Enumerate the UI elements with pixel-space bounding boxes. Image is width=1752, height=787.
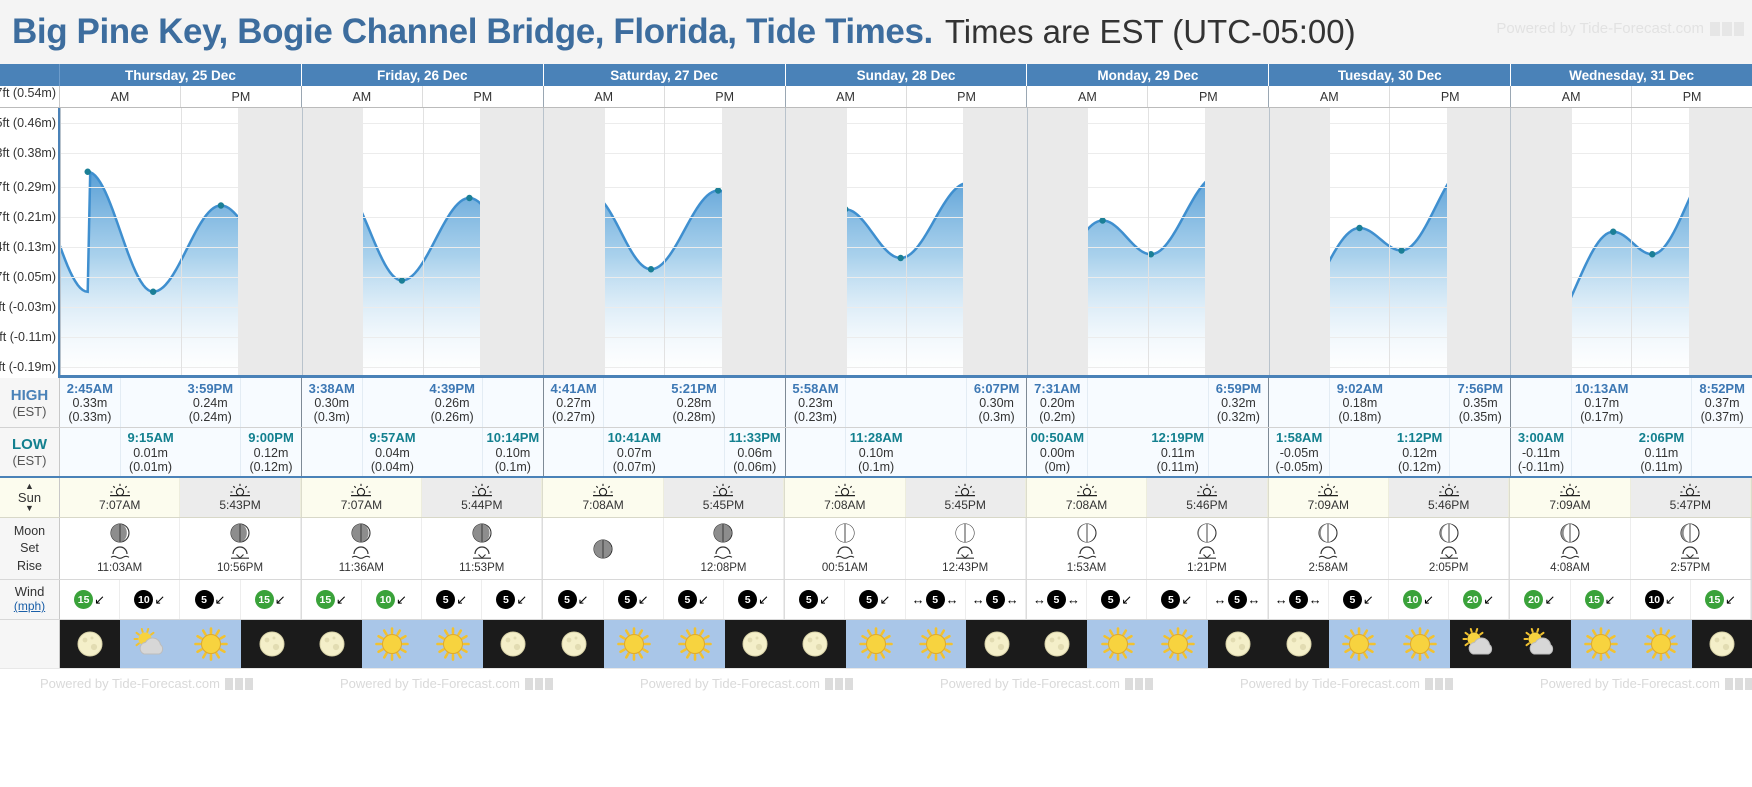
low-tide-time: 1:12PM — [1397, 431, 1443, 446]
clear-night-moon-icon — [256, 628, 288, 660]
sunrise-sunset-icon — [1196, 483, 1218, 497]
wind-cell[interactable]: ↔5↔ — [1207, 580, 1267, 619]
wind-cell[interactable]: 5↙ — [785, 580, 845, 619]
weather-cell[interactable] — [785, 620, 845, 668]
weather-cell[interactable] — [1027, 620, 1087, 668]
moon-phase-icon — [472, 523, 492, 543]
moon-am-cell[interactable] — [543, 518, 663, 579]
wind-cell[interactable]: 5↙ — [604, 580, 664, 619]
wind-cell[interactable]: 5↙ — [482, 580, 542, 619]
sunset-cell[interactable]: 5:45PM — [906, 478, 1026, 517]
low-tide-cell[interactable]: 12:19PM0.11m(0.11m) — [1148, 428, 1209, 476]
wind-cell[interactable]: ↔5↔ — [966, 580, 1026, 619]
wind-cell[interactable]: 5↙ — [664, 580, 724, 619]
wind-cell[interactable]: 20↙ — [1510, 580, 1570, 619]
wind-speed-badge: 5 — [859, 590, 878, 609]
high-tide-time: 6:07PM — [974, 382, 1020, 397]
wind-cell[interactable]: 5↙ — [1329, 580, 1389, 619]
clear-night-moon-icon — [497, 628, 529, 660]
weather-cell[interactable] — [362, 620, 422, 668]
y-axis-tick: 0.17ft (0.05m) — [0, 270, 56, 284]
wind-cell[interactable]: 5↙ — [180, 580, 240, 619]
tide-extreme-marker[interactable] — [466, 195, 472, 201]
sunny-icon — [617, 627, 651, 661]
weather-cell[interactable] — [181, 620, 241, 668]
weather-cell[interactable] — [60, 620, 120, 668]
high-tide-cell — [604, 378, 664, 427]
chart-day-separator — [1510, 108, 1511, 375]
wind-cell[interactable]: ↔5↔ — [906, 580, 966, 619]
weather-pm — [1631, 620, 1752, 668]
weather-pm — [664, 620, 785, 668]
tide-chart-y-axis: 1.77ft (0.54m)1.5ft (0.46m)1.23ft (0.38m… — [0, 108, 60, 378]
wind-speed-badge: 10 — [1403, 590, 1422, 609]
high-tide-height-alt: (0.35m) — [1459, 410, 1502, 424]
weather-cell[interactable] — [120, 620, 180, 668]
wind-direction-arrow-icon: ↙ — [638, 593, 649, 606]
wind-cell[interactable]: 15↙ — [1691, 580, 1751, 619]
tide-extreme-marker[interactable] — [150, 289, 156, 295]
moonrise-time: 1:21PM — [1187, 562, 1227, 574]
high-tide-row: HIGH (EST) 2:45AM0.33m(0.33m)3:59PM0.24m… — [0, 378, 1752, 428]
sunset-cell[interactable]: 5:47PM — [1631, 478, 1751, 517]
date-header-cell: Friday, 26 Dec — [302, 64, 544, 86]
low-tide-day: 00:50AM0.00m(0m)12:19PM0.11m(0.11m) — [1027, 428, 1269, 476]
page-footer: Powered by Tide-Forecast.comPowered by T… — [0, 668, 1752, 697]
wind-direction-arrow-icon: ↙ — [456, 593, 467, 606]
chart-day-separator — [785, 108, 786, 375]
sunset-time: 5:47PM — [1670, 498, 1711, 512]
moon-am-cell[interactable]: 4:08AM — [1510, 518, 1630, 579]
moon-am-cell[interactable]: 11:36AM — [302, 518, 422, 579]
low-tide-cell[interactable]: 10:14PM0.10m(0.1m) — [483, 428, 543, 476]
wind-direction-arrow-icon: ↙ — [1121, 593, 1132, 606]
y-axis-tick: 0.44ft (0.13m) — [0, 240, 56, 254]
wind-direction-arrow-icon: ↔ — [1033, 593, 1046, 606]
weather-days — [60, 620, 1752, 668]
weather-cell[interactable] — [1329, 620, 1389, 668]
high-tide-am: 2:45AM0.33m(0.33m) — [60, 378, 180, 427]
weather-cell[interactable] — [1269, 620, 1329, 668]
high-tide-time: 7:31AM — [1034, 382, 1080, 397]
high-tide-label: HIGH (EST) — [0, 378, 60, 427]
high-tide-cell[interactable]: 3:59PM0.24m(0.24m) — [180, 378, 241, 427]
wind-direction-arrow-icon: ↔ — [1067, 593, 1080, 606]
low-tide-am: 1:58AM-0.05m(-0.05m) — [1269, 428, 1389, 476]
sunrise-cell[interactable]: 7:07AM — [60, 478, 180, 517]
wind-cell[interactable]: 10↙ — [120, 580, 180, 619]
wind-cell[interactable]: 10↙ — [1631, 580, 1691, 619]
low-tide-cell[interactable]: 9:00PM0.12m(0.12m) — [241, 428, 301, 476]
high-tide-height-alt: (0.2m) — [1039, 410, 1075, 424]
wind-speed-badge: 5 — [496, 590, 515, 609]
wind-pm: 10↙20↙ — [1389, 580, 1509, 619]
moon-phase-icon — [593, 539, 613, 559]
tide-extreme-marker[interactable] — [1398, 247, 1404, 253]
weather-cell[interactable] — [483, 620, 543, 668]
wind-direction-arrow-icon: ↙ — [1423, 593, 1434, 606]
low-tide-day: 11:28AM0.10m(0.1m) — [786, 428, 1028, 476]
wind-unit-link[interactable]: (mph) — [14, 600, 45, 614]
low-tide-height-alt: (-0.05m) — [1276, 460, 1323, 474]
y-axis-tick: -0.62ft (-0.19m) — [0, 360, 56, 374]
sunrise-cell[interactable]: 7:08AM — [543, 478, 663, 517]
wind-cell[interactable]: 20↙ — [1449, 580, 1509, 619]
sunrise-cell[interactable]: 7:09AM — [1510, 478, 1630, 517]
wind-direction-arrow-icon: ↙ — [154, 593, 165, 606]
footer-watermark: Powered by Tide-Forecast.com — [1540, 676, 1752, 691]
high-tide-height-alt: (0.37m) — [1701, 410, 1744, 424]
tide-chart-row: 1.77ft (0.54m)1.5ft (0.46m)1.23ft (0.38m… — [0, 108, 1752, 378]
tide-extreme-marker[interactable] — [1099, 217, 1105, 223]
clear-night-moon-icon — [74, 628, 106, 660]
wind-direction-arrow-icon: ↔ — [1214, 593, 1227, 606]
low-tide-cell[interactable]: 9:15AM0.01m(0.01m) — [121, 428, 181, 476]
wind-cell[interactable]: 5↙ — [724, 580, 784, 619]
tide-extreme-marker[interactable] — [218, 202, 224, 208]
low-tide-cell[interactable]: 11:28AM0.10m(0.1m) — [846, 428, 906, 476]
sunset-cell[interactable]: 5:44PM — [422, 478, 542, 517]
high-tide-time: 5:21PM — [671, 382, 717, 397]
wind-cell[interactable]: 10↙ — [362, 580, 422, 619]
moon-am-cell[interactable]: 1:53AM — [1027, 518, 1147, 579]
sunset-cell[interactable]: 5:46PM — [1147, 478, 1267, 517]
sun-day: 7:08AM5:45PM — [785, 478, 1027, 517]
high-tide-time: 3:59PM — [188, 382, 234, 397]
moon-pm-cell[interactable]: 12:43PM — [906, 518, 1026, 579]
weather-cell[interactable] — [1148, 620, 1208, 668]
wind-direction-arrow-icon: ↙ — [758, 593, 769, 606]
high-tide-height: 0.24m — [193, 396, 228, 410]
wind-cell[interactable]: 5↙ — [1087, 580, 1147, 619]
moon-pm-cell[interactable]: 2:57PM — [1631, 518, 1751, 579]
wind-cell[interactable]: 5↙ — [422, 580, 482, 619]
high-tide-time: 6:59PM — [1216, 382, 1262, 397]
moon-pm-cell[interactable]: 11:53PM — [422, 518, 542, 579]
chart-halfday-separator — [906, 108, 907, 375]
sunrise-sunset-icon — [1679, 483, 1701, 497]
sunrise-cell[interactable]: 7:08AM — [785, 478, 905, 517]
high-tide-cell — [725, 378, 785, 427]
weather-cell[interactable] — [846, 620, 906, 668]
ampm-am-cell: AM — [302, 86, 423, 107]
wind-am: ↔5↔5↙ — [1269, 580, 1389, 619]
weather-pm — [181, 620, 302, 668]
low-tide-pm: 9:00PM0.12m(0.12m) — [180, 428, 300, 476]
low-tide-height: -0.05m — [1280, 446, 1319, 460]
tide-chart-plot[interactable] — [60, 108, 1752, 378]
low-tide-height: -0.11m — [1522, 446, 1560, 460]
moonset-icon — [350, 546, 372, 559]
moon-phase-icon — [1077, 523, 1097, 543]
clear-night-moon-icon — [981, 628, 1013, 660]
sun-row: ▲ Sun ▼ 7:07AM5:43PM7:07AM5:44PM7:08AM5:… — [0, 478, 1752, 518]
sunset-cell[interactable]: 5:45PM — [664, 478, 784, 517]
wind-day: 20↙15↙10↙15↙ — [1510, 580, 1752, 619]
wind-speed-badge: 15 — [255, 590, 274, 609]
sunset-time: 5:45PM — [945, 498, 986, 512]
moon-row: Moon Set Rise 11:03AM10:56PM11:36AM11:53… — [0, 518, 1752, 580]
wind-cell[interactable]: 15↙ — [1571, 580, 1631, 619]
tide-extreme-marker[interactable] — [897, 255, 903, 261]
weather-cell[interactable] — [1389, 620, 1449, 668]
wind-am: 15↙10↙ — [60, 580, 180, 619]
wind-speed-badge: 10 — [376, 590, 395, 609]
low-tide-cell[interactable]: 1:12PM0.12m(0.12m) — [1390, 428, 1451, 476]
wind-speed-badge: 5 — [926, 590, 945, 609]
sunrise-cell[interactable]: 7:07AM — [302, 478, 422, 517]
wind-cell[interactable]: 5↙ — [543, 580, 603, 619]
low-tide-cell — [302, 428, 363, 476]
wind-direction-arrow-icon: ↔ — [1006, 593, 1019, 606]
moon-pm-cell[interactable]: 12:08PM — [664, 518, 784, 579]
high-tide-cell[interactable]: 7:31AM0.20m(0.2m) — [1027, 378, 1088, 427]
chart-day-separator — [302, 108, 303, 375]
moon-am-cell[interactable]: 00:51AM — [785, 518, 905, 579]
low-tide-height-alt: (0.04m) — [371, 460, 414, 474]
moonrise-time: 2:57PM — [1671, 562, 1711, 574]
moonrise-icon — [471, 546, 493, 559]
y-axis-tick: 1.77ft (0.54m) — [0, 86, 56, 100]
low-tide-pm: 2:06PM0.11m(0.11m) — [1632, 428, 1752, 476]
moon-day: 1:53AM1:21PM — [1027, 518, 1269, 579]
low-tide-am: 10:41AM0.07m(0.07m) — [544, 428, 664, 476]
high-tide-height: 0.26m — [435, 396, 470, 410]
chart-day-separator — [1269, 108, 1270, 375]
chart-halfday-separator — [181, 108, 182, 375]
clear-night-moon-icon — [739, 628, 771, 660]
high-tide-cell[interactable]: 9:02AM0.18m(0.18m) — [1330, 378, 1390, 427]
wind-cell[interactable]: ↔5↔ — [1269, 580, 1329, 619]
moonset-icon — [1076, 546, 1098, 559]
ampm-day: AMPM — [786, 86, 1028, 107]
ampm-am-cell: AM — [60, 86, 181, 107]
weather-day — [60, 620, 302, 668]
low-tide-day: 10:41AM0.07m(0.07m)11:33PM0.06m(0.06m) — [544, 428, 786, 476]
tide-extreme-marker[interactable] — [1610, 229, 1616, 235]
wind-cell[interactable]: ↔5↔ — [1027, 580, 1087, 619]
wind-direction-arrow-icon: ↙ — [275, 593, 286, 606]
low-tide-cell — [1692, 428, 1752, 476]
weather-am — [785, 620, 906, 668]
low-tide-time: 10:14PM — [487, 431, 540, 446]
y-axis-tick: 1.5ft (0.46m) — [0, 116, 56, 130]
low-tide-label: LOW (EST) — [0, 428, 60, 476]
weather-cell[interactable] — [906, 620, 966, 668]
sunrise-sunset-icon — [592, 483, 614, 497]
low-tide-cell[interactable]: 10:41AM0.07m(0.07m) — [604, 428, 664, 476]
sun-down-arrow-icon: ▼ — [25, 504, 34, 513]
high-tide-height: 0.17m — [1584, 396, 1619, 410]
wind-cell[interactable]: 15↙ — [241, 580, 301, 619]
low-tide-cell[interactable]: 11:33PM0.06m(0.06m) — [725, 428, 785, 476]
tide-extreme-marker[interactable] — [84, 169, 90, 175]
high-tide-day: 2:45AM0.33m(0.33m)3:59PM0.24m(0.24m) — [60, 378, 302, 427]
tide-extreme-marker[interactable] — [399, 277, 405, 283]
wind-direction-arrow-icon: ↔ — [972, 593, 985, 606]
high-tide-cell[interactable]: 7:56PM0.35m(0.35m) — [1450, 378, 1510, 427]
wind-cell[interactable]: 10↙ — [1389, 580, 1449, 619]
low-tide-cell[interactable]: 9:57AM0.04m(0.04m) — [363, 428, 423, 476]
moon-pm-cell[interactable]: 2:05PM — [1389, 518, 1509, 579]
moon-am-cell[interactable]: 2:58AM — [1269, 518, 1389, 579]
wind-direction-arrow-icon: ↙ — [819, 593, 830, 606]
low-tide-pm: 11:33PM0.06m(0.06m) — [664, 428, 784, 476]
wind-speed-badge: 10 — [1645, 590, 1664, 609]
watermark-bars-icon — [825, 678, 853, 690]
weather-cell[interactable] — [543, 620, 603, 668]
high-tide-day: 9:02AM0.18m(0.18m)7:56PM0.35m(0.35m) — [1269, 378, 1511, 427]
low-tide-am: 00:50AM0.00m(0m) — [1027, 428, 1147, 476]
high-tide-cell[interactable]: 4:41AM0.27m(0.27m) — [544, 378, 605, 427]
ampm-am-cell: AM — [544, 86, 665, 107]
weather-cell[interactable] — [604, 620, 664, 668]
low-tide-cell[interactable]: 1:58AM-0.05m(-0.05m) — [1269, 428, 1330, 476]
weather-cell[interactable] — [1510, 620, 1570, 668]
high-tide-cell[interactable]: 3:38AM0.30m(0.3m) — [302, 378, 363, 427]
wind-am: ↔5↔5↙ — [1027, 580, 1147, 619]
sunrise-cell[interactable]: 7:09AM — [1269, 478, 1389, 517]
low-tide-cell[interactable]: 00:50AM0.00m(0m) — [1027, 428, 1088, 476]
wind-speed-badge: 20 — [1463, 590, 1482, 609]
low-tide-cell[interactable]: 3:00AM-0.11m(-0.11m) — [1511, 428, 1572, 476]
wind-cell[interactable]: 5↙ — [845, 580, 905, 619]
high-tide-cell[interactable]: 2:45AM0.33m(0.33m) — [60, 378, 121, 427]
ampm-day: AMPM — [1027, 86, 1269, 107]
clear-night-moon-icon — [316, 628, 348, 660]
moon-pm-cell[interactable]: 1:21PM — [1147, 518, 1267, 579]
low-tide-height: 0.11m — [1161, 446, 1195, 460]
wind-cell[interactable]: 15↙ — [60, 580, 120, 619]
high-tide-cell[interactable]: 10:13AM0.17m(0.17m) — [1572, 378, 1632, 427]
wind-am: 5↙5↙ — [543, 580, 663, 619]
weather-cell[interactable] — [302, 620, 362, 668]
low-tide-height-alt: (0.01m) — [129, 460, 172, 474]
weather-cell[interactable] — [725, 620, 785, 668]
low-tide-cell[interactable]: 2:06PM0.11m(0.11m) — [1632, 428, 1693, 476]
high-tide-cell — [241, 378, 301, 427]
weather-cell[interactable] — [1692, 620, 1752, 668]
moonset-time: 2:58AM — [1308, 562, 1348, 574]
moonrise-time: 11:53PM — [459, 562, 504, 574]
sunrise-time: 7:08AM — [1066, 498, 1107, 512]
sunset-time: 5:46PM — [1186, 498, 1227, 512]
high-tide-time: 4:39PM — [429, 382, 475, 397]
wind-direction-arrow-icon: ↙ — [1544, 593, 1555, 606]
high-tide-cell[interactable]: 8:52PM0.37m(0.37m) — [1692, 378, 1752, 427]
high-tide-cell[interactable]: 4:39PM0.26m(0.26m) — [422, 378, 483, 427]
weather-day — [1027, 620, 1269, 668]
low-tide-pm — [906, 428, 1026, 476]
low-tide-cell — [786, 428, 847, 476]
moonrise-icon — [229, 546, 251, 559]
moonrise-icon — [954, 546, 976, 559]
high-tide-pm: 5:21PM0.28m(0.28m) — [664, 378, 784, 427]
high-tide-cell — [1632, 378, 1693, 427]
moon-phase-icon — [835, 523, 855, 543]
high-tide-cell[interactable]: 5:21PM0.28m(0.28m) — [664, 378, 725, 427]
low-tide-row: LOW (EST) 9:15AM0.01m(0.01m)9:00PM0.12m(… — [0, 428, 1752, 478]
high-tide-cell[interactable]: 6:59PM0.32m(0.32m) — [1209, 378, 1269, 427]
weather-cell[interactable] — [966, 620, 1026, 668]
sunrise-cell[interactable]: 7:08AM — [1027, 478, 1147, 517]
page-title: Big Pine Key, Bogie Channel Bridge, Flor… — [12, 12, 933, 52]
high-tide-timezone: (EST) — [13, 404, 47, 419]
weather-cell[interactable] — [1087, 620, 1147, 668]
moon-phase-icon — [955, 523, 975, 543]
chart-day-separator — [60, 108, 61, 375]
weather-cell[interactable] — [241, 620, 301, 668]
weather-cell[interactable] — [664, 620, 724, 668]
wind-speed-badge: 5 — [1343, 590, 1362, 609]
low-tide-height-alt: (0.1m) — [858, 460, 894, 474]
low-tide-am: 3:00AM-0.11m(-0.11m) — [1511, 428, 1631, 476]
moon-set-label: Set — [20, 541, 39, 555]
footer-watermark-text: Powered by Tide-Forecast.com — [640, 676, 820, 691]
wind-cell[interactable]: 5↙ — [1147, 580, 1207, 619]
tide-extreme-marker[interactable] — [715, 187, 721, 193]
moon-rise-label: Rise — [17, 559, 42, 573]
tide-extreme-marker[interactable] — [1356, 225, 1362, 231]
moon-label-text: Moon — [14, 524, 45, 538]
high-tide-pm: 7:56PM0.35m(0.35m) — [1390, 378, 1510, 427]
moon-pm-cell[interactable]: 10:56PM — [180, 518, 300, 579]
low-tide-cell — [422, 428, 483, 476]
sunset-cell[interactable]: 5:43PM — [180, 478, 300, 517]
wind-direction-arrow-icon: ↙ — [879, 593, 890, 606]
weather-cell[interactable] — [423, 620, 483, 668]
moon-am-cell[interactable]: 11:03AM — [60, 518, 180, 579]
chart-halfday-separator — [1148, 108, 1149, 375]
moon-phase-icon — [351, 523, 371, 543]
high-tide-cell — [1148, 378, 1209, 427]
moonrise-icon — [1196, 546, 1218, 559]
date-header-cell: Saturday, 27 Dec — [544, 64, 786, 86]
wind-am: 5↙5↙ — [785, 580, 905, 619]
sunset-cell[interactable]: 5:46PM — [1389, 478, 1509, 517]
sun-day: 7:09AM5:46PM — [1269, 478, 1511, 517]
high-tide-day: 10:13AM0.17m(0.17m)8:52PM0.37m(0.37m) — [1511, 378, 1752, 427]
wind-cell[interactable]: 15↙ — [302, 580, 362, 619]
low-tide-pm: 12:19PM0.11m(0.11m) — [1148, 428, 1268, 476]
high-tide-pm: 3:59PM0.24m(0.24m) — [180, 378, 300, 427]
wind-direction-arrow-icon: ↙ — [516, 593, 527, 606]
weather-cell[interactable] — [1631, 620, 1691, 668]
ampm-day: AMPM — [1269, 86, 1511, 107]
wind-speed-badge: 5 — [986, 590, 1005, 609]
low-tide-day: 9:15AM0.01m(0.01m)9:00PM0.12m(0.12m) — [60, 428, 302, 476]
tide-extreme-marker[interactable] — [1649, 251, 1655, 257]
date-header-cell: Monday, 29 Dec — [1027, 64, 1269, 86]
tide-extreme-marker[interactable] — [648, 266, 654, 272]
high-tide-cell[interactable]: 6:07PM0.30m(0.3m) — [967, 378, 1027, 427]
low-tide-time: 9:57AM — [369, 431, 415, 446]
moonrise-icon — [1438, 546, 1460, 559]
low-tide-height: 0.10m — [859, 446, 894, 460]
high-tide-pm: 6:59PM0.32m(0.32m) — [1148, 378, 1268, 427]
clear-night-moon-icon — [1222, 628, 1254, 660]
sunrise-time: 7:09AM — [1549, 498, 1590, 512]
weather-cell[interactable] — [1571, 620, 1631, 668]
weather-cell[interactable] — [1450, 620, 1510, 668]
moon-phase-icon — [1197, 523, 1217, 543]
high-tide-cell[interactable]: 5:58AM0.23m(0.23m) — [786, 378, 847, 427]
weather-day — [302, 620, 544, 668]
sunny-icon — [1101, 627, 1135, 661]
weather-cell[interactable] — [1208, 620, 1268, 668]
high-tide-time: 10:13AM — [1575, 382, 1628, 397]
footer-watermark-text: Powered by Tide-Forecast.com — [340, 676, 520, 691]
